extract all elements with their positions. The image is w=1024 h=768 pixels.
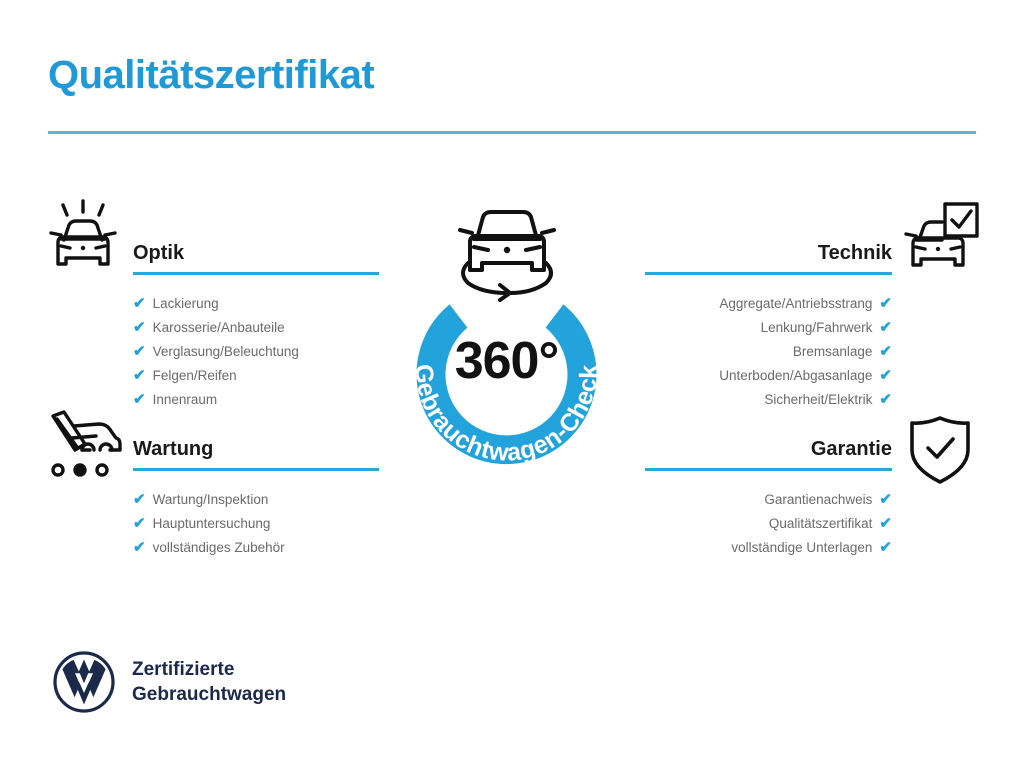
- checklist-item-label: Sicherheit/Elektrik: [764, 388, 872, 412]
- section-heading-optik: Optik: [133, 240, 379, 266]
- checklist-item: ✔Wartung/Inspektion: [133, 488, 379, 512]
- check-icon: ✔: [879, 392, 892, 407]
- checklist-item: Garantienachweis✔: [645, 488, 892, 512]
- section-wartung: Wartung ✔Wartung/Inspektion✔Hauptuntersu…: [133, 436, 379, 560]
- checklist-item-label: Hauptuntersuchung: [153, 512, 271, 536]
- section-technik: Technik Aggregate/Antriebsstrang✔Lenkung…: [645, 240, 892, 412]
- checklist-item-label: Unterboden/Abgasanlage: [719, 364, 872, 388]
- section-heading-technik: Technik: [645, 240, 892, 266]
- check-icon: ✔: [879, 516, 892, 531]
- checklist-item: ✔Karosserie/Anbauteile: [133, 316, 379, 340]
- check-icon: ✔: [879, 492, 892, 507]
- check-icon: ✔: [133, 344, 146, 359]
- checklist-item: Bremsanlage✔: [645, 340, 892, 364]
- checklist-item-label: Garantienachweis: [764, 488, 872, 512]
- check-icon: ✔: [133, 368, 146, 383]
- checklist-item-label: vollständige Unterlagen: [731, 536, 872, 560]
- car-front-checkbox-icon: [902, 198, 982, 279]
- checklist-item: ✔Felgen/Reifen: [133, 364, 379, 388]
- checklist-item-label: Lackierung: [153, 292, 219, 316]
- checklist-item: Qualitätszertifikat✔: [645, 512, 892, 536]
- checklist-item: ✔vollständiges Zubehör: [133, 536, 379, 560]
- badge-360-gebrauchtwagen-check: Gebrauchtwagen-Check 360°: [378, 197, 635, 487]
- checklist-wartung: ✔Wartung/Inspektion✔Hauptuntersuchung✔vo…: [133, 488, 379, 560]
- section-divider-wartung: [133, 468, 379, 471]
- header-divider: [48, 131, 976, 134]
- car-front-shine-icon: [44, 198, 122, 279]
- check-icon: ✔: [133, 540, 146, 555]
- footer-line-1: Zertifizierte: [132, 657, 286, 682]
- badge-center-label: 360°: [378, 335, 635, 387]
- check-icon: ✔: [879, 344, 892, 359]
- checklist-item-label: Verglasung/Beleuchtung: [153, 340, 299, 364]
- shield-check-icon: [906, 414, 974, 491]
- check-icon: ✔: [133, 392, 146, 407]
- checklist-item: Aggregate/Antriebsstrang✔: [645, 292, 892, 316]
- checklist-item: vollständige Unterlagen✔: [645, 536, 892, 560]
- section-optik: Optik ✔Lackierung✔Karosserie/Anbauteile✔…: [133, 240, 379, 412]
- checklist-item-label: Felgen/Reifen: [153, 364, 237, 388]
- page-title: Qualitätszertifikat: [48, 52, 374, 98]
- checklist-item-label: Qualitätszertifikat: [769, 512, 873, 536]
- checklist-optik: ✔Lackierung✔Karosserie/Anbauteile✔Vergla…: [133, 292, 379, 412]
- checklist-garantie: Garantienachweis✔Qualitätszertifikat✔vol…: [645, 488, 892, 560]
- footer-brand-text: Zertifizierte Gebrauchtwagen: [132, 657, 286, 707]
- check-icon: ✔: [133, 296, 146, 311]
- section-divider-technik: [645, 272, 892, 275]
- checklist-item-label: Lenkung/Fahrwerk: [761, 316, 873, 340]
- check-icon: ✔: [879, 368, 892, 383]
- checklist-item: ✔Hauptuntersuchung: [133, 512, 379, 536]
- checklist-item-label: Karosserie/Anbauteile: [153, 316, 285, 340]
- checklist-item: ✔Lackierung: [133, 292, 379, 316]
- check-icon: ✔: [133, 320, 146, 335]
- section-divider-garantie: [645, 468, 892, 471]
- checklist-item-label: Bremsanlage: [793, 340, 873, 364]
- checklist-item: ✔Innenraum: [133, 388, 379, 412]
- pen-car-service-icon: [44, 410, 124, 485]
- checklist-item-label: Aggregate/Antriebsstrang: [719, 292, 872, 316]
- check-icon: ✔: [133, 516, 146, 531]
- check-icon: ✔: [879, 320, 892, 335]
- check-icon: ✔: [879, 540, 892, 555]
- section-divider-optik: [133, 272, 379, 275]
- footer-line-2: Gebrauchtwagen: [132, 682, 286, 707]
- checklist-item-label: Wartung/Inspektion: [153, 488, 269, 512]
- check-icon: ✔: [133, 492, 146, 507]
- check-icon: ✔: [879, 296, 892, 311]
- checklist-item: ✔Verglasung/Beleuchtung: [133, 340, 379, 364]
- footer-brand: Zertifizierte Gebrauchtwagen: [52, 650, 286, 714]
- section-heading-wartung: Wartung: [133, 436, 379, 462]
- checklist-item: Sicherheit/Elektrik✔: [645, 388, 892, 412]
- checklist-item: Lenkung/Fahrwerk✔: [645, 316, 892, 340]
- checklist-item-label: vollständiges Zubehör: [153, 536, 285, 560]
- checklist-item: Unterboden/Abgasanlage✔: [645, 364, 892, 388]
- volkswagen-logo: [52, 650, 116, 714]
- section-heading-garantie: Garantie: [645, 436, 892, 462]
- checklist-item-label: Innenraum: [153, 388, 218, 412]
- checklist-technik: Aggregate/Antriebsstrang✔Lenkung/Fahrwer…: [645, 292, 892, 412]
- certificate-page: Qualitätszertifikat: [0, 0, 1024, 768]
- section-garantie: Garantie Garantienachweis✔Qualitätszerti…: [645, 436, 892, 560]
